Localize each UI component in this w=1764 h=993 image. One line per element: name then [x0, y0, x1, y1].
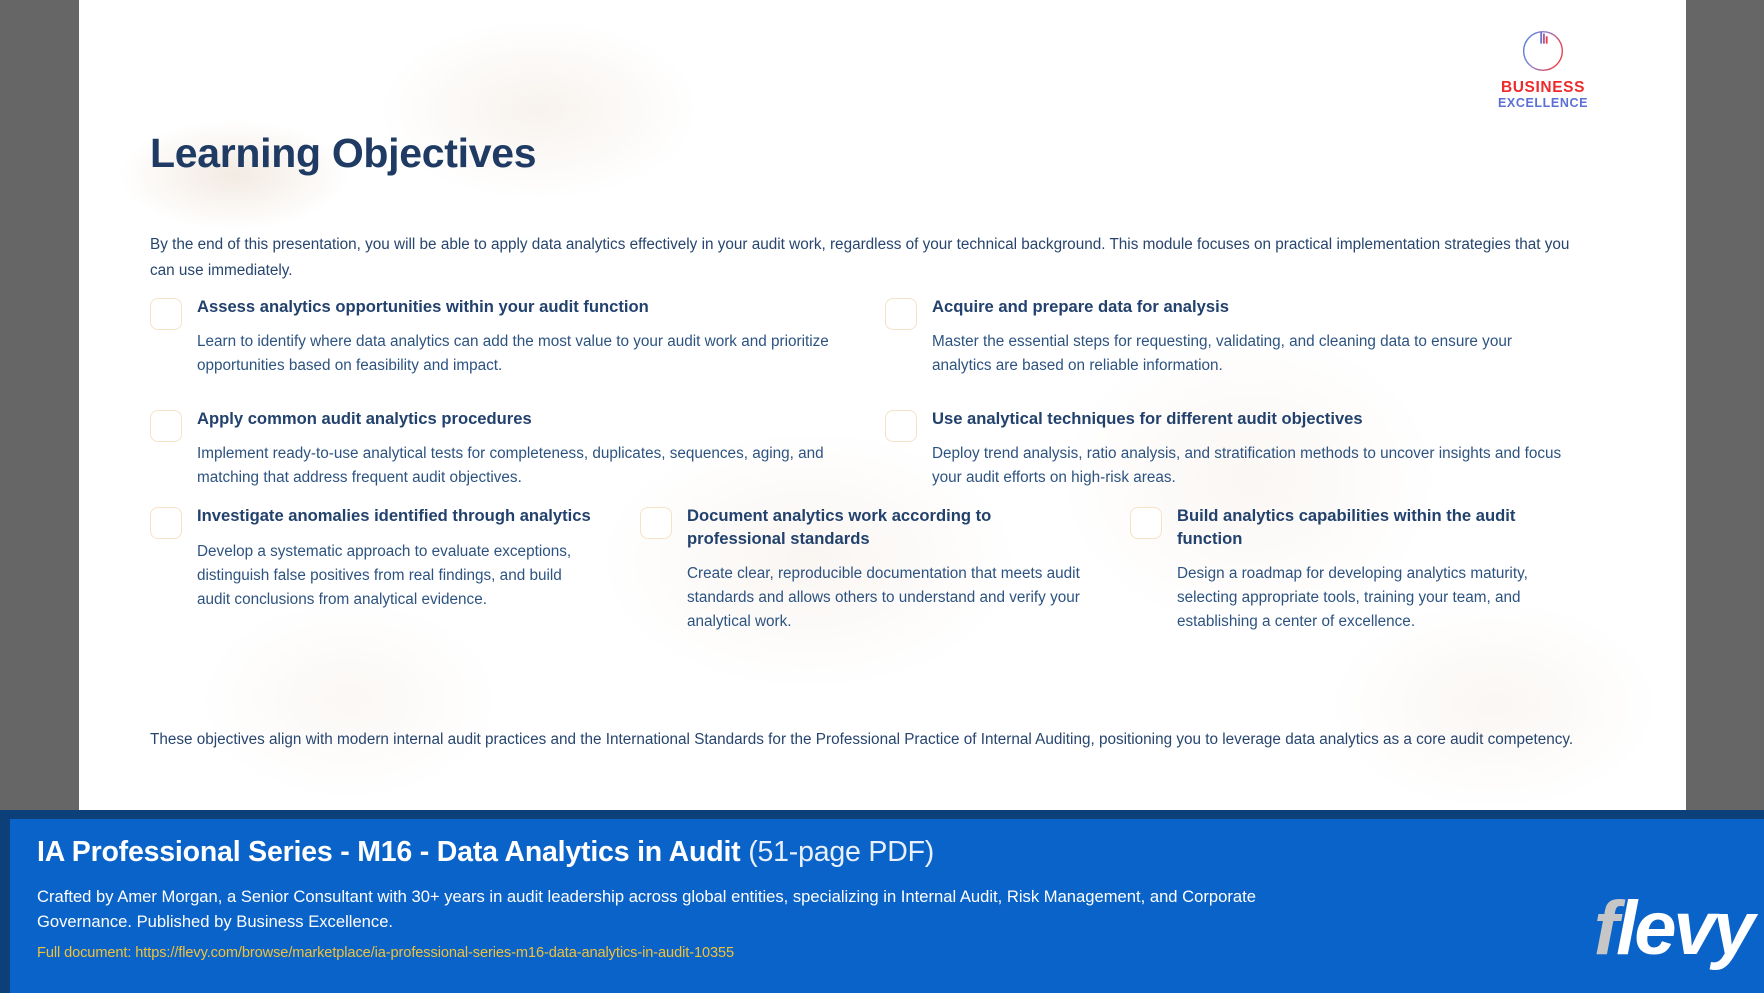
slide-canvas: BUSINESS EXCELLENCE Learning Objectives …	[79, 0, 1686, 810]
objective-title: Document analytics work according to pro…	[687, 505, 1082, 550]
intro-paragraph: By the end of this presentation, you wil…	[150, 232, 1578, 284]
checkbox-icon[interactable]	[150, 507, 182, 539]
objective-item[interactable]: Assess analytics opportunities within yo…	[150, 296, 885, 378]
flevy-footer-banner: IA Professional Series - M16 - Data Anal…	[0, 810, 1764, 993]
document-page-count: (51-page PDF)	[748, 836, 934, 868]
document-title: IA Professional Series - M16 - Data Anal…	[37, 834, 1327, 870]
objective-description: Develop a systematic approach to evaluat…	[197, 540, 592, 612]
checkbox-icon[interactable]	[1130, 507, 1162, 539]
objective-row-1: Assess analytics opportunities within yo…	[150, 296, 1620, 378]
closing-paragraph: These objectives align with modern inter…	[150, 727, 1578, 753]
globe-sphere-icon	[1520, 28, 1566, 74]
checkbox-icon[interactable]	[150, 410, 182, 442]
objective-item[interactable]: Acquire and prepare data for analysis Ma…	[885, 296, 1620, 378]
logo-text-business: BUSINESS	[1488, 80, 1598, 96]
objective-item[interactable]: Use analytical techniques for different …	[885, 408, 1620, 490]
objective-title: Investigate anomalies identified through…	[197, 505, 592, 528]
objective-row-3: Investigate anomalies identified through…	[150, 505, 1620, 634]
objective-title: Acquire and prepare data for analysis	[932, 296, 1568, 319]
document-url-link[interactable]: Full document: https://flevy.com/browse/…	[37, 945, 1327, 961]
objective-item[interactable]: Document analytics work according to pro…	[640, 505, 1130, 634]
objective-item[interactable]: Investigate anomalies identified through…	[150, 505, 640, 634]
objective-item[interactable]: Build analytics capabilities within the …	[1130, 505, 1620, 634]
checkbox-icon[interactable]	[640, 507, 672, 539]
objective-title: Build analytics capabilities within the …	[1177, 505, 1572, 550]
flevy-logo[interactable]: flevy	[1594, 891, 1752, 967]
banner-text-block: IA Professional Series - M16 - Data Anal…	[37, 834, 1327, 961]
flevy-logo-f: f	[1594, 886, 1616, 971]
objective-description: Learn to identify where data analytics c…	[197, 330, 833, 378]
objective-description: Implement ready-to-use analytical tests …	[197, 442, 833, 490]
objective-item[interactable]: Apply common audit analytics procedures …	[150, 408, 885, 490]
page-title: Learning Objectives	[150, 130, 536, 177]
objective-description: Deploy trend analysis, ratio analysis, a…	[932, 442, 1568, 490]
checkbox-icon[interactable]	[885, 410, 917, 442]
objective-description: Create clear, reproducible documentation…	[687, 562, 1082, 634]
flevy-logo-levy: levy	[1616, 886, 1752, 971]
objective-row-2: Apply common audit analytics procedures …	[150, 408, 1620, 490]
objective-title: Use analytical techniques for different …	[932, 408, 1568, 431]
banner-top-accent-strip	[0, 810, 1764, 819]
objective-description: Master the essential steps for requestin…	[932, 330, 1568, 378]
checkbox-icon[interactable]	[150, 298, 182, 330]
checkbox-icon[interactable]	[885, 298, 917, 330]
document-description: Crafted by Amer Morgan, a Senior Consult…	[37, 884, 1327, 934]
logo-text-excellence: EXCELLENCE	[1488, 97, 1598, 110]
objective-title: Apply common audit analytics procedures	[197, 408, 833, 431]
business-excellence-logo: BUSINESS EXCELLENCE	[1488, 28, 1598, 109]
objective-description: Design a roadmap for developing analytic…	[1177, 562, 1572, 634]
objective-title: Assess analytics opportunities within yo…	[197, 296, 833, 319]
document-title-main: IA Professional Series - M16 - Data Anal…	[37, 836, 740, 868]
banner-left-accent-strip	[0, 819, 10, 993]
